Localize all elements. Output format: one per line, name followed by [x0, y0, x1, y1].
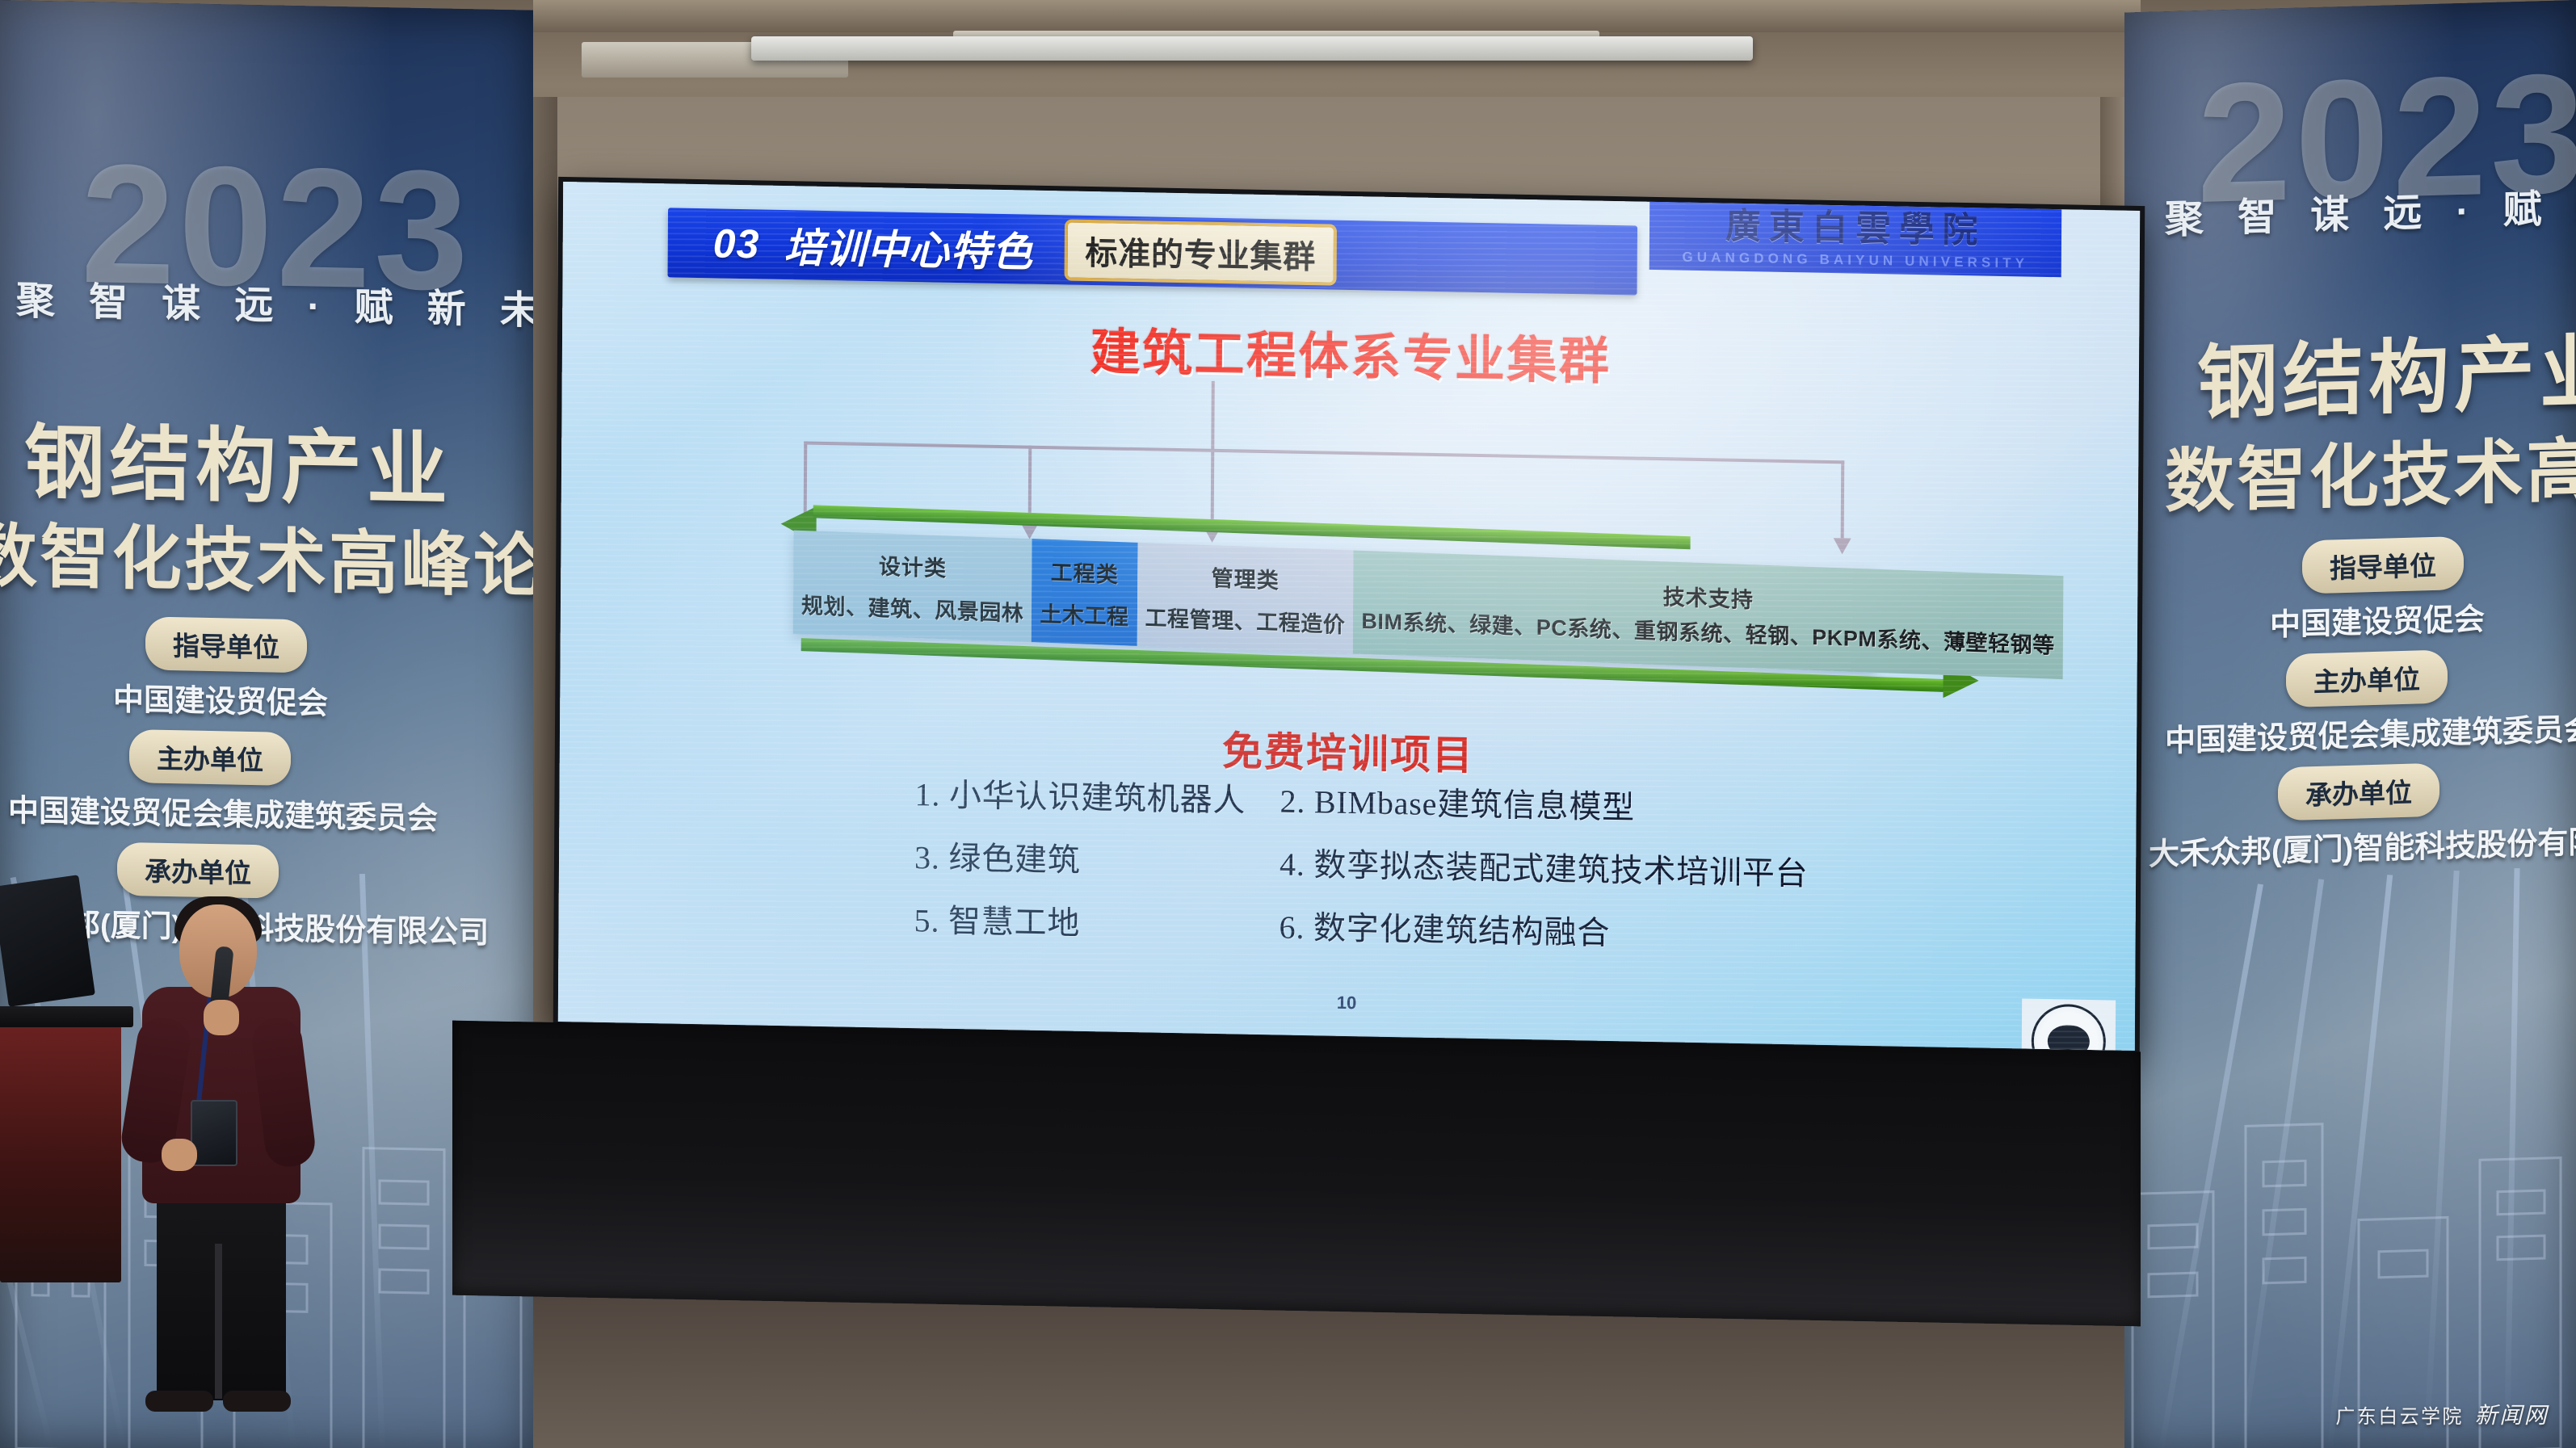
banner-org-label-1-left: 主办单位: [129, 729, 291, 786]
cluster-name-engineering: 工程类: [1051, 555, 1119, 589]
section-title: 培训中心特色: [784, 216, 1033, 279]
speaker-shoe-left: [145, 1391, 213, 1412]
banner-slogan-left: 聚 智 谋 远 · 赋 新 未 来: [16, 268, 533, 336]
watermark-section: 新闻网: [2475, 1398, 2549, 1430]
tree-arrow-4: [1834, 538, 1851, 554]
cluster-cell-tech-support[interactable]: 技术支持 BIM系统、绿建、PC系统、重钢系统、轻钢、PKPM系统、薄壁轻钢等: [1353, 551, 2063, 680]
speaker-badge: [191, 1100, 237, 1166]
list-item: 3. 绿色建筑: [914, 831, 1262, 884]
conference-photo-scene: 2023 聚 智 谋 远 · 赋 新 未 来 钢结构产业 数智化技术高峰论坛 指…: [0, 0, 2576, 1448]
speaker-hand-right: [204, 1000, 239, 1035]
banner-title2-right: 数智化技术高峰论坛: [2165, 407, 2576, 526]
cluster-name-tech-support: 技术支持: [1663, 579, 1754, 614]
cluster-majors-engineering: 土木工程: [1040, 596, 1128, 631]
stage-front-panel: [452, 1021, 2141, 1327]
free-training-list: 1. 小华认识建筑机器人 2. BIMbase建筑信息模型 3. 绿色建筑 4.…: [914, 768, 1924, 959]
cluster-majors-management: 工程管理、工程造价: [1145, 600, 1345, 639]
banner-title2-left: 数智化技术高峰论坛: [0, 498, 533, 611]
slide-page-number: 10: [558, 978, 2135, 1028]
list-item: 5. 智慧工地: [914, 894, 1261, 947]
speaker-hand-left: [162, 1139, 197, 1171]
section-number: 03: [713, 220, 760, 267]
projector-screen-roller: [751, 36, 1753, 61]
cluster-majors-design: 规划、建筑、风景园林: [801, 587, 1024, 627]
right-event-banner: 2023 聚 智 谋 远 · 赋 新 未 来 钢结构产业 数智化技术高峰论坛 指…: [2124, 0, 2576, 1448]
list-item: 4. 数孪拟态装配式建筑技术培训平台: [1280, 837, 1924, 896]
university-seal-icon: 1989: [2022, 998, 2116, 1051]
podium-top: [0, 1006, 133, 1027]
projection-screen: 廣東白雲學院 GUANGDONG BAIYUN UNIVERSITY 03 培训…: [558, 182, 2140, 1051]
tree-crossbar: [804, 441, 1844, 464]
cluster-name-design: 设计类: [879, 548, 947, 582]
tree-trunk: [1211, 381, 1215, 451]
speaker: [121, 896, 331, 1413]
banner-org-label-2-right: 承办单位: [2278, 763, 2439, 821]
cluster-cell-management[interactable]: 管理类 工程管理、工程造价: [1137, 543, 1354, 654]
banner-org-label-1-right: 主办单位: [2286, 649, 2448, 707]
podium: [0, 1016, 121, 1282]
list-item: 6. 数字化建筑结构融合: [1279, 900, 1923, 959]
speaker-legs-split: [215, 1244, 222, 1399]
list-item: 1. 小华认识建筑机器人: [914, 768, 1262, 821]
banner-org-label-2-left: 承办单位: [117, 842, 279, 899]
confidence-monitor: [0, 875, 95, 1007]
cluster-majors-tech-support: BIM系统、绿建、PC系统、重钢系统、轻钢、PKPM系统、薄壁轻钢等: [1361, 606, 2055, 661]
cluster-name-management: 管理类: [1212, 560, 1280, 594]
banner-org-name-0-right: 中国建设贸促会: [2270, 594, 2485, 644]
speaker-shoe-right: [223, 1391, 291, 1412]
banner-org-label-0-right: 指导单位: [2302, 536, 2464, 594]
watermark-site: 广东白云学院: [2335, 1400, 2463, 1429]
watermark: 广东白云学院 新闻网: [2335, 1398, 2549, 1430]
section-badge: 标准的专业集群: [1064, 219, 1337, 285]
banner-org-name-0-left: 中国建设贸促会: [113, 674, 328, 723]
cluster-cell-engineering[interactable]: 工程类 土木工程: [1032, 539, 1137, 646]
tree-branch-3: [1211, 449, 1215, 530]
tree-branch-4: [1841, 460, 1845, 541]
cluster-cell-design[interactable]: 设计类 规划、建筑、风景园林: [793, 531, 1032, 643]
banner-org-label-0-left: 指导单位: [145, 616, 307, 673]
banner-org-name-1-left: 中国建设贸促会集成建筑委员会: [8, 785, 438, 837]
ceiling-beam-1: [533, 0, 2141, 32]
slide-header-bar: 03 培训中心特色 标准的专业集群: [668, 208, 1638, 295]
